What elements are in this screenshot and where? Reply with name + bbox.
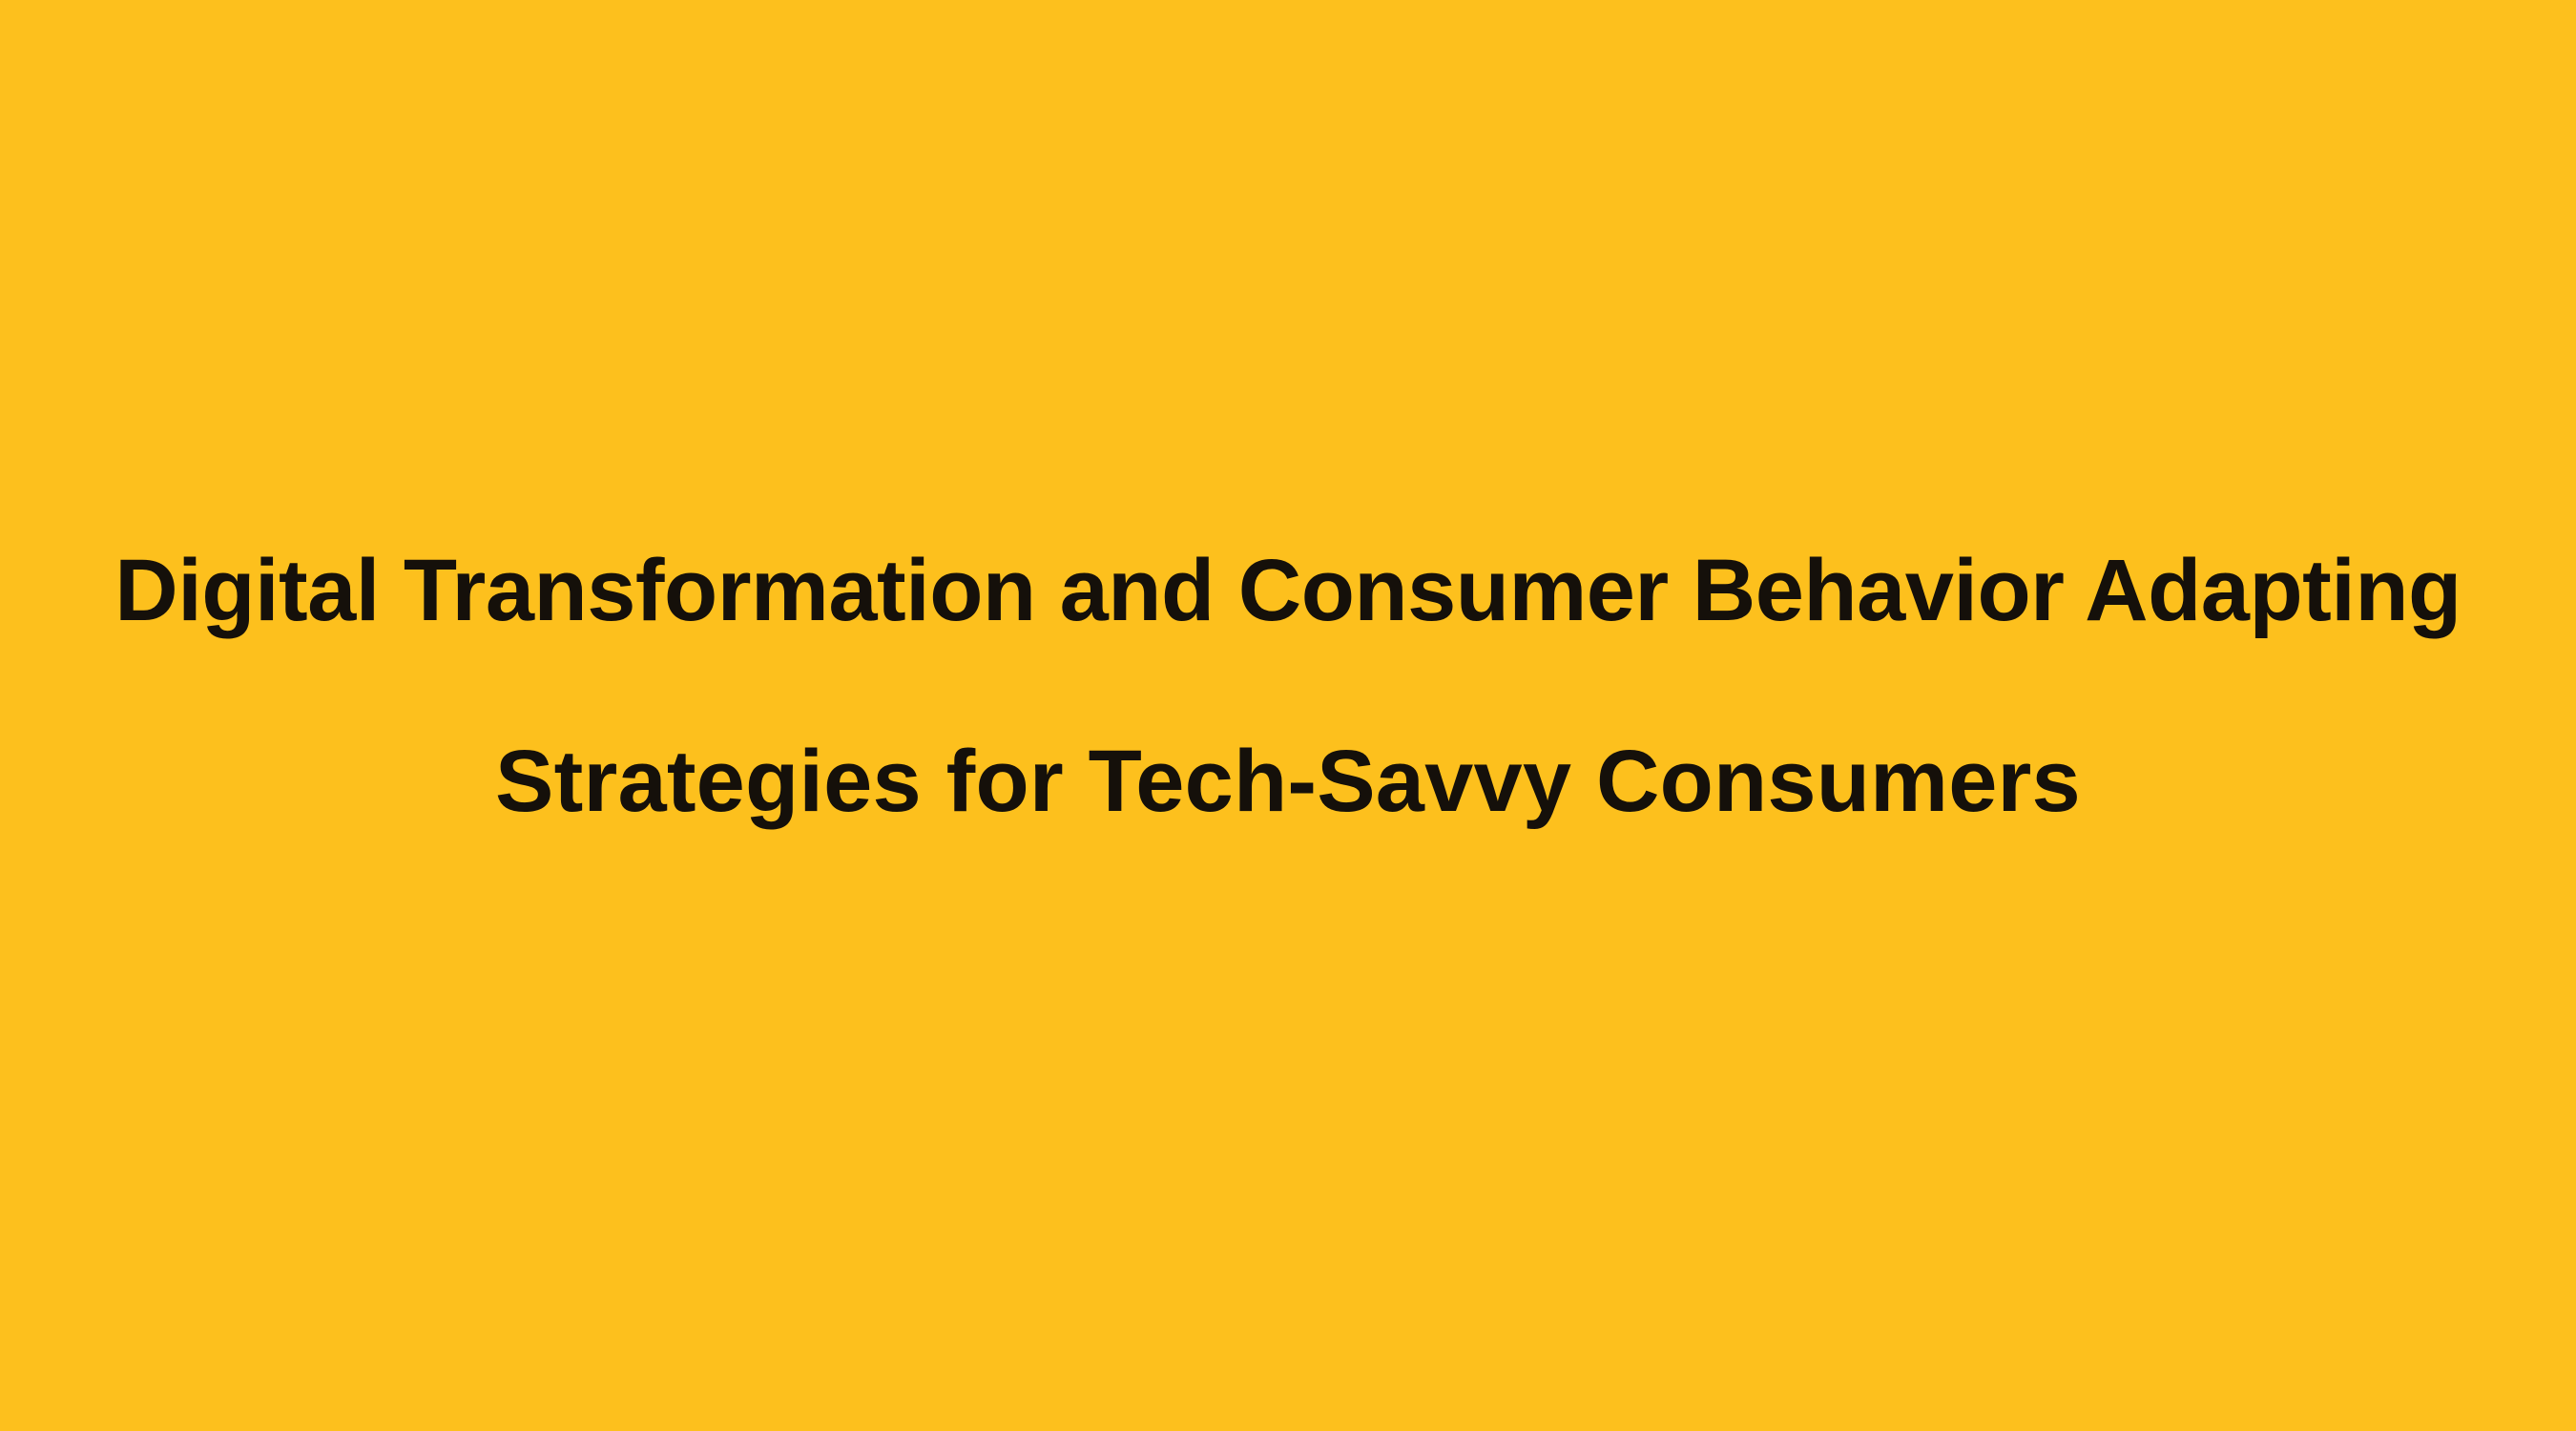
title-banner: Digital Transformation and Consumer Beha… (0, 0, 2576, 1431)
page-title-line-1: Digital Transformation and Consumer Beha… (29, 495, 2547, 686)
page-title-line-2: Strategies for Tech-Savvy Consumers (29, 686, 2547, 877)
page-title: Digital Transformation and Consumer Beha… (29, 495, 2547, 877)
